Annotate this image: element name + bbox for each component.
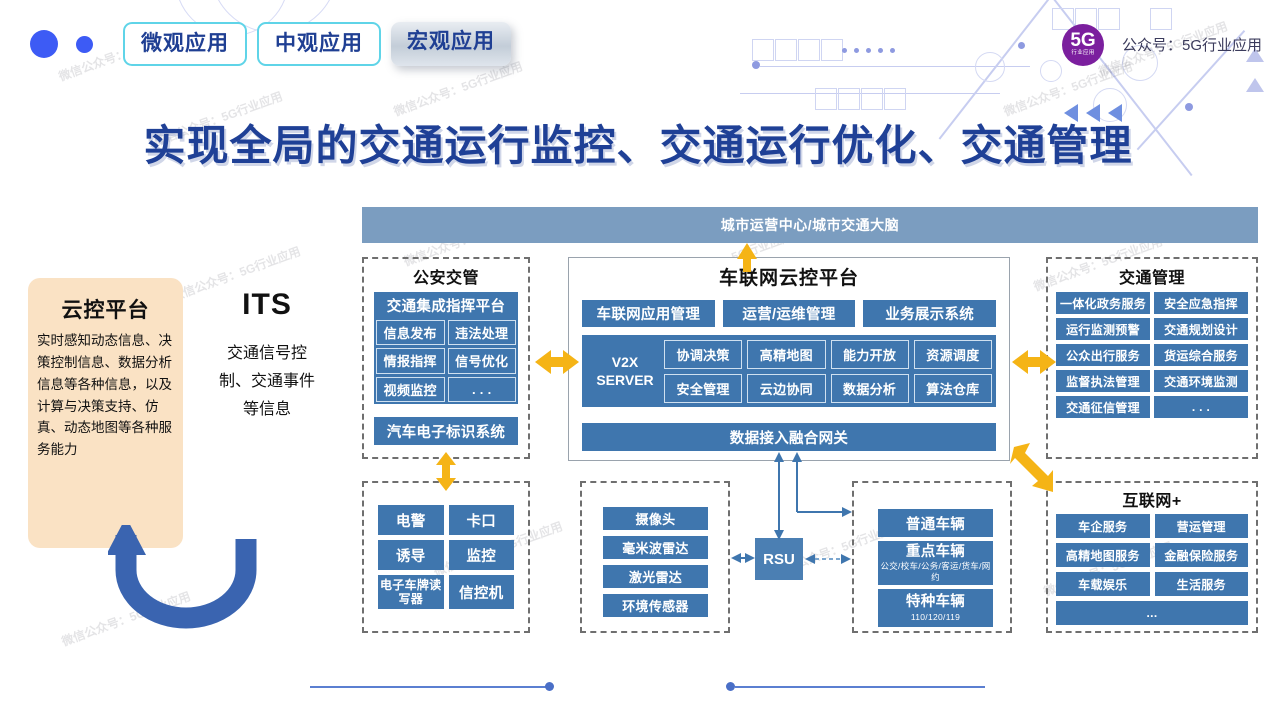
- v2x-label-line1: V2X: [612, 354, 638, 370]
- ip-item-6[interactable]: ...: [1056, 601, 1248, 625]
- line-gateway-rsu: [774, 452, 852, 540]
- cloud-platform-card: 云控平台 实时感知动态信息、决策控制信息、数据分析信息等各种信息，以及计算与决策…: [28, 278, 183, 548]
- tab-micro[interactable]: 微观应用: [123, 22, 247, 66]
- vehicle-eid-system[interactable]: 汽车电子标识系统: [374, 417, 518, 445]
- tm-item-3[interactable]: 交通规划设计: [1154, 318, 1248, 340]
- cloud-platform-card-body: 实时感知动态信息、决策控制信息、数据分析信息等各种信息，以及计算与决策支持、仿真…: [37, 330, 174, 461]
- logo-dot-small: [76, 36, 93, 53]
- tm-item-8[interactable]: 交通征信管理: [1056, 396, 1150, 418]
- bottom-dot-right: [726, 682, 735, 691]
- tm-item-6[interactable]: 监督执法管理: [1056, 370, 1150, 392]
- vehicle-item-2[interactable]: 特种车辆 110/120/119: [878, 589, 993, 627]
- curved-arrow-icon: [108, 525, 283, 635]
- vehicle-item-1[interactable]: 重点车辆 公交/校车/公务/客运/货车/网约: [878, 541, 993, 585]
- sensor-item-0[interactable]: 摄像头: [603, 507, 708, 530]
- ps-item-4[interactable]: 视频监控: [376, 377, 445, 402]
- road-item-0[interactable]: 电警: [378, 505, 444, 535]
- tm-item-1[interactable]: 安全应急指挥: [1154, 292, 1248, 314]
- cp-cap-6[interactable]: 数据分析: [831, 374, 909, 403]
- vehicle-item-2-label: 特种车辆: [906, 594, 965, 611]
- its-column: ITS 交通信号控制、交通事件等信息: [212, 288, 322, 424]
- sensor-item-2[interactable]: 激光雷达: [603, 565, 708, 588]
- vehicle-item-1-sub: 公交/校车/公务/客运/货车/网约: [878, 561, 993, 582]
- badge-5g-main: 5G: [1070, 33, 1095, 49]
- cp-cap-7[interactable]: 算法仓库: [914, 374, 992, 403]
- cp-cap-3[interactable]: 资源调度: [914, 340, 992, 369]
- tab-meso[interactable]: 中观应用: [257, 22, 381, 66]
- line-rsu-vehicles: [805, 554, 851, 564]
- badge-5g: 5G 行业应用: [1062, 24, 1104, 66]
- ps-item-0[interactable]: 信息发布: [376, 320, 445, 345]
- cp-top-2[interactable]: 业务展示系统: [863, 300, 996, 327]
- ip-item-2[interactable]: 高精地图服务: [1056, 543, 1150, 567]
- cp-cap-0[interactable]: 协调决策: [664, 340, 742, 369]
- vehicle-item-1-label: 重点车辆: [906, 544, 965, 561]
- city-operation-center-bar: 城市运营中心/城市交通大脑: [362, 207, 1258, 243]
- page-title: 实现全局的交通运行监控、交通运行优化、交通管理: [0, 112, 1276, 173]
- traffic-management-title: 交通管理: [1046, 264, 1258, 288]
- ip-item-4[interactable]: 车载娱乐: [1056, 572, 1150, 596]
- tm-item-0[interactable]: 一体化政务服务: [1056, 292, 1150, 314]
- public-security-title: 公安交管: [362, 264, 530, 288]
- line-sensors-rsu: [731, 553, 755, 563]
- sensor-item-3[interactable]: 环境传感器: [603, 594, 708, 617]
- tm-item-7[interactable]: 交通环境监测: [1154, 370, 1248, 392]
- cp-top-1[interactable]: 运营/运维管理: [723, 300, 856, 327]
- logo-dot-large: [30, 30, 58, 58]
- tm-item-2[interactable]: 运行监测预警: [1056, 318, 1150, 340]
- its-title: ITS: [212, 288, 322, 322]
- bottom-dot-left: [545, 682, 554, 691]
- cp-cap-1[interactable]: 高精地图: [747, 340, 825, 369]
- slide-canvas: 微信公众号：5G行业应用 微信公众号：5G行业应用 微信公众号：5G行业应用 微…: [0, 0, 1276, 718]
- data-gateway[interactable]: 数据接入融合网关: [582, 423, 996, 451]
- ps-item-3[interactable]: 信号优化: [448, 348, 517, 373]
- sensor-item-1[interactable]: 毫米波雷达: [603, 536, 708, 559]
- rsu-node[interactable]: RSU: [755, 538, 803, 580]
- vehicle-item-2-sub: 110/120/119: [911, 612, 960, 623]
- road-item-5[interactable]: 信控机: [449, 575, 515, 609]
- road-item-2[interactable]: 诱导: [378, 540, 444, 570]
- its-body: 交通信号控制、交通事件等信息: [212, 340, 322, 424]
- watermark: 微信公众号：5G行业应用: [1001, 57, 1135, 119]
- road-item-3[interactable]: 监控: [449, 540, 515, 570]
- internet-plus-title: 互联网+: [1046, 487, 1258, 511]
- ps-item-2[interactable]: 情报指挥: [376, 348, 445, 373]
- tm-item-9[interactable]: . . .: [1154, 396, 1248, 418]
- vehicle-item-0[interactable]: 普通车辆: [878, 509, 993, 537]
- cp-cap-5[interactable]: 云边协同: [747, 374, 825, 403]
- ip-item-5[interactable]: 生活服务: [1155, 572, 1249, 596]
- watermark: 微信公众号：5G行业应用: [391, 57, 525, 119]
- traffic-command-platform: 交通集成指挥平台: [374, 292, 518, 318]
- tab-macro[interactable]: 宏观应用: [391, 22, 511, 66]
- tm-item-4[interactable]: 公众出行服务: [1056, 344, 1150, 366]
- cp-cap-4[interactable]: 安全管理: [664, 374, 742, 403]
- cloud-platform-card-title: 云控平台: [37, 294, 174, 324]
- ip-item-1[interactable]: 营运管理: [1155, 514, 1249, 538]
- tm-item-5[interactable]: 货运综合服务: [1154, 344, 1248, 366]
- v2x-label-line2: SERVER: [596, 372, 653, 388]
- ip-item-0[interactable]: 车企服务: [1056, 514, 1150, 538]
- ip-item-3[interactable]: 金融保险服务: [1155, 543, 1249, 567]
- road-item-4[interactable]: 电子车牌读写器: [378, 575, 444, 609]
- wechat-account-label: 公众号：5G行业应用: [1122, 34, 1262, 55]
- top-tabbar: 微观应用 中观应用 宏观应用: [30, 22, 511, 66]
- cp-cap-2[interactable]: 能力开放: [831, 340, 909, 369]
- vehicle-item-0-label: 普通车辆: [906, 513, 965, 534]
- ps-item-1[interactable]: 违法处理: [448, 320, 517, 345]
- cp-top-0[interactable]: 车联网应用管理: [582, 300, 715, 327]
- road-item-1[interactable]: 卡口: [449, 505, 515, 535]
- bottom-line-right: [735, 686, 985, 688]
- cloud-platform-title: 车联网云控平台: [568, 263, 1010, 290]
- bottom-line-left: [310, 686, 550, 688]
- badge-5g-sub: 行业应用: [1071, 49, 1094, 57]
- ps-item-5[interactable]: . . .: [448, 377, 517, 402]
